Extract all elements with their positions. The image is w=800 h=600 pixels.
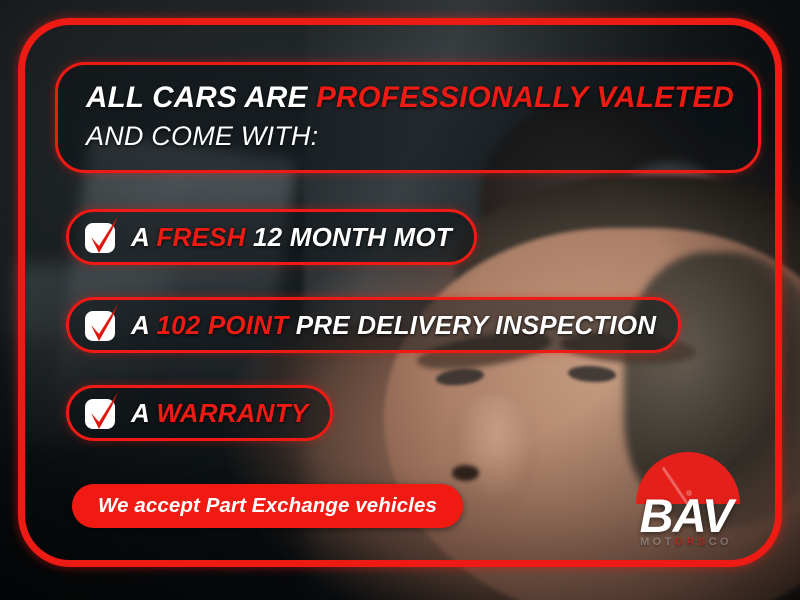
heading-panel: ALL CARS ARE PROFESSIONALLY VALETED AND … xyxy=(55,62,761,173)
part-exchange-button[interactable]: We accept Part Exchange vehicles xyxy=(72,484,463,528)
heading-line-primary: ALL CARS ARE PROFESSIONALLY VALETED xyxy=(86,81,758,115)
heading-highlight-text: PROFESSIONALLY VALETED xyxy=(316,81,734,114)
feature-row-inspection[interactable]: A 102 POINT PRE DELIVERY INSPECTION xyxy=(66,297,681,353)
feature-label-warranty: A WARRANTY xyxy=(131,398,308,429)
checkbox-checked-icon xyxy=(85,397,117,429)
feature-prefix: A xyxy=(131,222,156,252)
feature-label-mot: A FRESH 12 MONTH MOT xyxy=(131,222,452,253)
logo-sub-prefix: MOT xyxy=(640,536,674,548)
logo-sub-highlight: ORS xyxy=(675,536,709,548)
checkbox-checked-icon xyxy=(85,309,117,341)
feature-highlight: FRESH xyxy=(156,222,245,252)
feature-row-warranty[interactable]: A WARRANTY xyxy=(66,385,333,441)
promo-banner: ALL CARS ARE PROFESSIONALLY VALETED AND … xyxy=(0,0,800,600)
logo-wordmark: BAV xyxy=(620,492,752,539)
feature-suffix: PRE DELIVERY INSPECTION xyxy=(288,310,656,340)
feature-highlight: WARRANTY xyxy=(156,398,308,428)
feature-prefix: A xyxy=(131,310,156,340)
feature-label-inspection: A 102 POINT PRE DELIVERY INSPECTION xyxy=(131,310,656,341)
feature-row-mot[interactable]: A FRESH 12 MONTH MOT xyxy=(66,209,477,265)
heading-line-secondary: AND COME WITH: xyxy=(86,121,758,152)
bav-motors-logo[interactable]: BAV MOTORSCO xyxy=(620,452,752,556)
heading-plain-text: ALL CARS ARE xyxy=(86,81,316,114)
feature-highlight: 102 POINT xyxy=(156,310,288,340)
part-exchange-label: We accept Part Exchange vehicles xyxy=(98,494,437,518)
logo-subtext: MOTORSCO xyxy=(620,536,752,548)
checkbox-checked-icon xyxy=(85,221,117,253)
feature-suffix: 12 MONTH MOT xyxy=(246,222,452,252)
logo-sub-suffix: CO xyxy=(709,536,732,548)
feature-prefix: A xyxy=(131,398,156,428)
